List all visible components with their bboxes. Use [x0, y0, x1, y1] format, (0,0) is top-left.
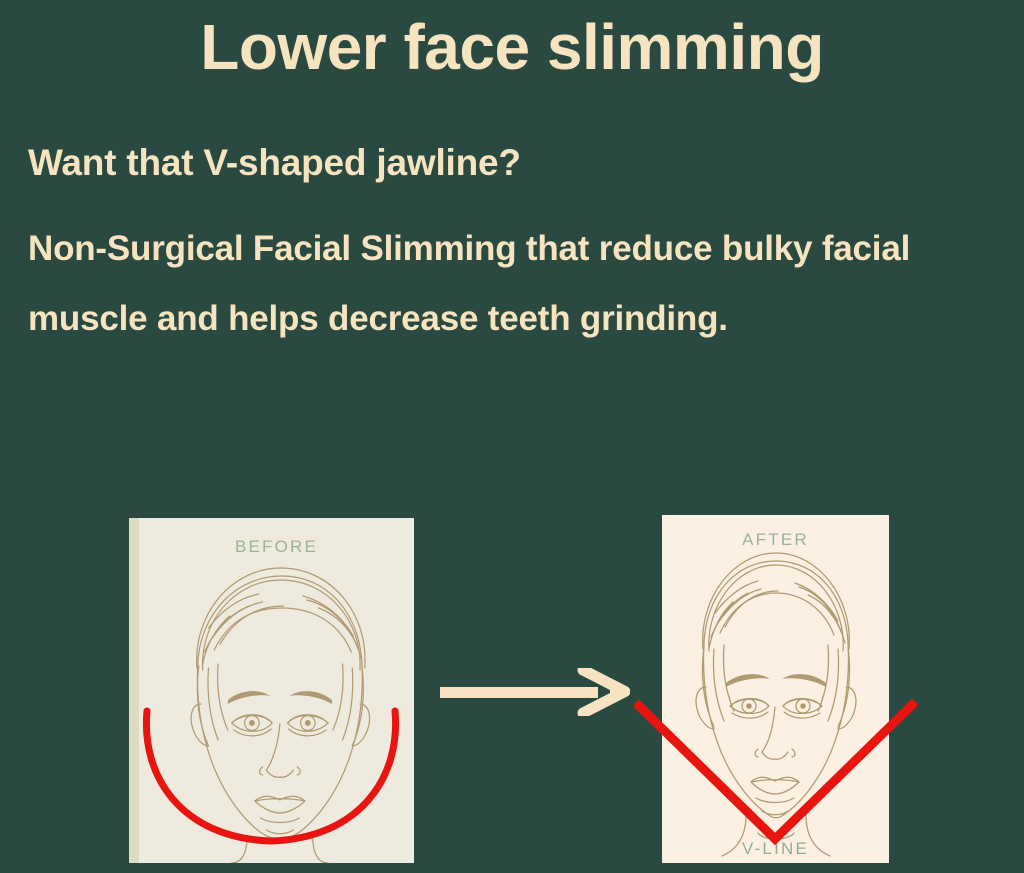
after-panel: AFTER V-LINE [662, 515, 889, 863]
right-arrow [440, 668, 630, 716]
slide-canvas: Lower face slimming Want that V-shaped j… [0, 0, 1024, 858]
before-panel: BEFORE [129, 518, 414, 863]
lead-question: Want that V-shaped jawline? [28, 140, 958, 186]
body-copy: Want that V-shaped jawline? Non-Surgical… [28, 140, 958, 353]
after-label: AFTER [662, 530, 889, 550]
page-title: Lower face slimming [0, 14, 1024, 81]
before-panel-surface: BEFORE [129, 518, 414, 863]
after-face-illustration [662, 515, 889, 863]
right-arrow-icon [440, 668, 630, 716]
after-panel-surface: AFTER V-LINE [662, 515, 889, 863]
body-paragraph: Non-Surgical Facial Slimming that reduce… [28, 214, 953, 353]
before-face-illustration [139, 518, 414, 863]
v-line-label: V-LINE [662, 839, 889, 859]
before-label: BEFORE [139, 537, 414, 557]
before-after-comparison: BEFORE [0, 500, 1024, 858]
